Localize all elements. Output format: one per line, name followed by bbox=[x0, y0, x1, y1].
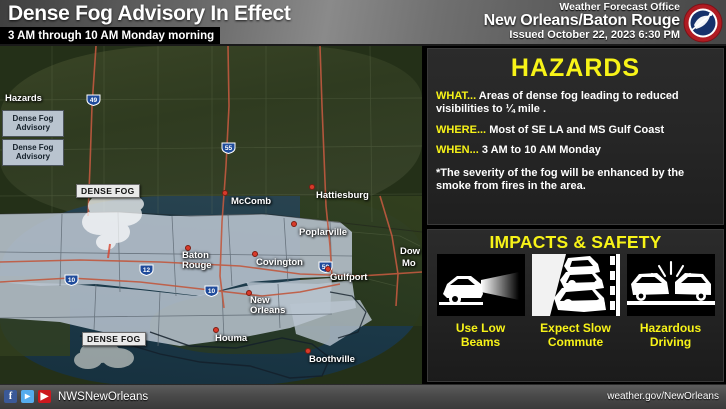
city-label-gulfport: Gulfport bbox=[330, 272, 367, 283]
legend-line-2: Advisory bbox=[16, 124, 50, 133]
map-legend-title: Hazards bbox=[5, 93, 42, 104]
impact-item-expect-slow-commute: Expect Slow Commute bbox=[532, 254, 620, 349]
legend-item-dense-fog-advisory: Dense Fog Advisory bbox=[2, 110, 64, 137]
legend-item-dense-fog-advisory: Dense Fog Advisory bbox=[2, 139, 64, 166]
svg-text:49: 49 bbox=[90, 97, 98, 104]
interstate-shield-55-icon: 55 bbox=[221, 141, 236, 154]
facebook-icon[interactable]: f bbox=[4, 390, 17, 403]
hazards-panel: HAZARDS WHAT... Areas of dense fog leadi… bbox=[427, 48, 724, 225]
title-block: Dense Fog Advisory In Effect bbox=[8, 0, 291, 27]
advisory-map[interactable]: 55 12 59 10 10 49 McComb Hattiesburg Pop… bbox=[0, 46, 422, 384]
city-dot bbox=[222, 190, 228, 196]
hazards-title: HAZARDS bbox=[436, 53, 715, 83]
youtube-icon[interactable]: ▶ bbox=[38, 390, 51, 403]
city-label-dow: Dow bbox=[400, 246, 420, 257]
nws-seal-icon bbox=[683, 3, 723, 43]
car-collision-icon bbox=[627, 254, 715, 316]
office-block: Weather Forecast Office New Orleans/Bato… bbox=[484, 2, 680, 42]
city-label-new-orleans: New Orleans bbox=[250, 296, 284, 315]
page-title: Dense Fog Advisory In Effect bbox=[8, 0, 291, 27]
city-dot bbox=[309, 184, 315, 190]
hazard-row-what: WHAT... Areas of dense fog leading to re… bbox=[436, 90, 715, 117]
city-label-baton-rouge: Baton Rouge bbox=[182, 251, 218, 270]
headlight-low-beam-icon bbox=[437, 254, 525, 316]
traffic-queue-icon bbox=[532, 254, 620, 316]
city-label-mccomb: McComb bbox=[231, 196, 271, 207]
hazard-key: WHEN... bbox=[436, 144, 479, 156]
impact-item-use-low-beams: Use Low Beams bbox=[437, 254, 525, 349]
impact-label-line-2: Commute bbox=[532, 335, 620, 349]
svg-text:10: 10 bbox=[208, 288, 216, 295]
hazard-key: WHAT... bbox=[436, 90, 476, 102]
impact-label-line-2: Driving bbox=[627, 335, 715, 349]
interstate-shield-49-icon: 49 bbox=[86, 93, 101, 106]
subtitle-bar: 3 AM through 10 AM Monday morning bbox=[0, 27, 220, 44]
city-label-boothville: Boothville bbox=[309, 354, 355, 365]
city-label-poplarville: Poplarville bbox=[299, 227, 347, 238]
city-label-covington: Covington bbox=[256, 257, 303, 268]
impact-label-line-1: Expect Slow bbox=[532, 321, 620, 335]
interstate-shield-10-icon: 10 bbox=[204, 284, 219, 297]
city-label-hattiesburg: Hattiesburg bbox=[316, 190, 369, 201]
right-panel: HAZARDS WHAT... Areas of dense fog leadi… bbox=[424, 46, 726, 384]
footer-url[interactable]: weather.gov/NewOrleans bbox=[607, 391, 719, 402]
hazards-note: *The severity of the fog will be enhance… bbox=[436, 167, 715, 194]
impact-label-line-2: Beams bbox=[437, 335, 525, 349]
impacts-panel: IMPACTS & SAFETY bbox=[427, 229, 724, 382]
hazard-value: 3 AM to 10 AM Monday bbox=[482, 144, 601, 156]
hazard-value: Most of SE LA and MS Gulf Coast bbox=[489, 124, 664, 136]
impact-label-line-1: Use Low bbox=[437, 321, 525, 335]
social-handle: NWSNewOrleans bbox=[58, 391, 148, 403]
svg-text:10: 10 bbox=[68, 277, 76, 284]
impact-item-hazardous-driving: Hazardous Driving bbox=[627, 254, 715, 349]
impact-label: Hazardous Driving bbox=[627, 321, 715, 349]
interstate-shield-12-icon: 12 bbox=[139, 263, 154, 276]
legend-line-2: Advisory bbox=[16, 153, 50, 162]
impact-items-row: Use Low Beams bbox=[428, 254, 723, 349]
impact-label: Expect Slow Commute bbox=[532, 321, 620, 349]
city-dot bbox=[291, 221, 297, 227]
issued-timestamp: Issued October 22, 2023 6:30 PM bbox=[484, 30, 680, 42]
city-label-houma: Houma bbox=[215, 333, 247, 344]
impacts-title: IMPACTS & SAFETY bbox=[428, 230, 723, 254]
hazard-row-when: WHEN... 3 AM to 10 AM Monday bbox=[436, 144, 715, 157]
subtitle-text: 3 AM through 10 AM Monday morning bbox=[8, 30, 214, 42]
svg-text:55: 55 bbox=[225, 145, 233, 152]
dense-fog-tag: DENSE FOG bbox=[76, 184, 140, 198]
footer-bar: f ▸ ▶ NWSNewOrleans weather.gov/NewOrlea… bbox=[0, 384, 726, 409]
interstate-shield-10-icon: 10 bbox=[64, 273, 79, 286]
hazard-key: WHERE... bbox=[436, 124, 486, 136]
impact-label: Use Low Beams bbox=[437, 321, 525, 349]
office-name: New Orleans/Baton Rouge bbox=[484, 13, 680, 30]
highways bbox=[0, 46, 422, 384]
twitter-icon[interactable]: ▸ bbox=[21, 390, 34, 403]
impact-label-line-1: Hazardous bbox=[627, 321, 715, 335]
dense-fog-tag: DENSE FOG bbox=[82, 332, 146, 346]
header-bar: Dense Fog Advisory In Effect 3 AM throug… bbox=[0, 0, 726, 46]
hazard-row-where: WHERE... Most of SE LA and MS Gulf Coast bbox=[436, 124, 715, 137]
svg-text:12: 12 bbox=[143, 267, 151, 274]
city-label-mo: Mo bbox=[402, 258, 416, 269]
